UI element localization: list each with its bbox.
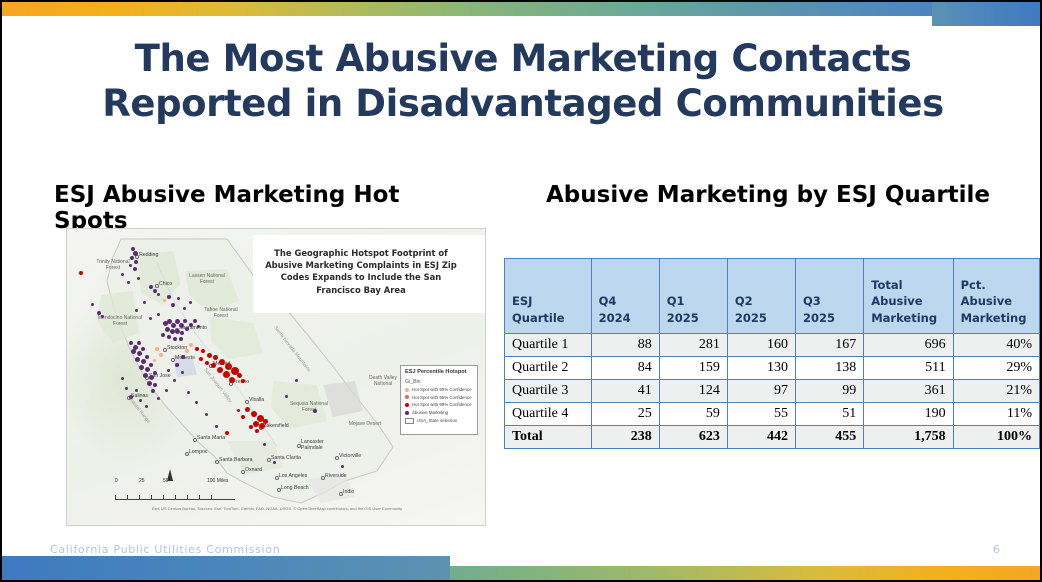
legend-field: Gi_Bin — [405, 379, 473, 385]
abusive-marketing-table: ESJ Quartile Q4 2024 Q1 2025 Q2 2025 — [504, 258, 1040, 449]
cell-q2-2025: 55 — [727, 403, 795, 426]
row-label: Quartile 3 — [505, 380, 592, 403]
map-scale-bar: 0 25 50 100 Miles — [115, 487, 235, 500]
cell-q3-2025: 99 — [796, 380, 864, 403]
column-header-pct-abusive-marketing: Pct. Abusive Marketing — [953, 259, 1039, 334]
cell-pct: 21% — [953, 380, 1039, 403]
header-line: Q3 — [803, 293, 856, 309]
table-row: Quartile 4 25 59 55 51 190 11% — [505, 403, 1040, 426]
cell-q2-2025: 130 — [727, 357, 795, 380]
table-row: Quartile 2 84 159 130 138 511 29% — [505, 357, 1040, 380]
column-header-total-abusive-marketing: Total Abusive Marketing — [864, 259, 953, 334]
cell-q2-2025: 160 — [727, 334, 795, 357]
header-line: Abusive — [871, 293, 945, 309]
legend-item-label: Hot Spot with 95% Confidence — [412, 395, 472, 400]
cell-q4-2024: 41 — [591, 380, 659, 403]
cell-q1-2025: 281 — [659, 334, 727, 357]
table-row: Quartile 3 41 124 97 99 361 21% — [505, 380, 1040, 403]
cell-total: 696 — [864, 334, 953, 357]
table-row-total: Total 238 623 442 455 1,758 100% — [505, 426, 1040, 449]
legend-item: Hot Spot with 95% Confidence — [405, 395, 473, 400]
cell-q4-2024: 84 — [591, 357, 659, 380]
scale-tick: 0 — [115, 478, 118, 484]
cell-q1-2025: 159 — [659, 357, 727, 380]
cell-pct: 29% — [953, 357, 1039, 380]
bottom-decorative-band — [2, 556, 1042, 580]
legend-item-label: Abusive Marketing — [412, 410, 448, 415]
scale-tick: 25 — [139, 478, 145, 484]
cell-q3-2025: 167 — [796, 334, 864, 357]
row-label: Quartile 1 — [505, 334, 592, 357]
header-line: Marketing — [871, 310, 945, 326]
cell-q2-2025: 442 — [727, 426, 795, 449]
cell-q3-2025: 138 — [796, 357, 864, 380]
row-label: Total — [505, 426, 592, 449]
top-band-notch — [2, 16, 932, 26]
bottom-band-step — [2, 556, 450, 580]
map-callout-text: The Geographic Hotspot Footprint of Abus… — [263, 247, 459, 296]
column-header-q2-2025: Q2 2025 — [727, 259, 795, 334]
scale-tick: 50 — [163, 478, 169, 484]
table-header: ESJ Quartile Q4 2024 Q1 2025 Q2 2025 — [505, 259, 1040, 334]
legend-swatch-icon — [405, 411, 409, 415]
header-line: Marketing — [961, 310, 1032, 326]
legend-swatch-icon — [405, 418, 414, 425]
legend-item-label: Hot Spot with 99% Confidence — [412, 402, 472, 407]
map-attribution: Esri, US Census Bureau, Sources: Esri, T… — [77, 506, 477, 511]
page-title: The Most Abusive Marketing Contacts Repo… — [2, 36, 1042, 126]
bottom-band-notch — [450, 556, 1042, 566]
top-decorative-band — [2, 2, 1042, 26]
header-line: Q2 — [735, 293, 788, 309]
cell-q1-2025: 124 — [659, 380, 727, 403]
legend-item: Hot Spot with 99% Confidence — [405, 402, 473, 407]
legend-item-label: Hot Spot with 90% Confidence — [412, 387, 472, 392]
column-header-q1-2025: Q1 2025 — [659, 259, 727, 334]
cell-total: 361 — [864, 380, 953, 403]
cell-q1-2025: 623 — [659, 426, 727, 449]
legend-item: Hot Spot with 90% Confidence — [405, 387, 473, 392]
header-line: 2025 — [735, 310, 788, 326]
column-header-esj-quartile: ESJ Quartile — [505, 259, 592, 334]
column-header-q4-2024: Q4 2024 — [591, 259, 659, 334]
title-line-2: Reported in Disadvantaged Communities — [2, 81, 1042, 126]
slide: The Most Abusive Marketing Contacts Repo… — [0, 0, 1042, 582]
cell-pct: 40% — [953, 334, 1039, 357]
header-line: Total — [871, 277, 945, 293]
column-header-q3-2025: Q3 2025 — [796, 259, 864, 334]
cell-pct: 11% — [953, 403, 1039, 426]
map-legend: ESJ Percentile Hotspot Gi_Bin Hot Spot w… — [400, 365, 478, 435]
header-line: Q4 — [599, 293, 652, 309]
cell-pct: 100% — [953, 426, 1039, 449]
top-band-gradient — [2, 2, 1042, 16]
legend-item-label: USA_State selection — [417, 418, 457, 423]
cell-q3-2025: 455 — [796, 426, 864, 449]
cell-q4-2024: 88 — [591, 334, 659, 357]
scale-line — [115, 495, 235, 500]
title-line-1: The Most Abusive Marketing Contacts — [2, 36, 1042, 81]
quartile-table-container: ESJ Quartile Q4 2024 Q1 2025 Q2 2025 — [504, 258, 1040, 449]
table-header-row: ESJ Quartile Q4 2024 Q1 2025 Q2 2025 — [505, 259, 1040, 334]
cell-q1-2025: 59 — [659, 403, 727, 426]
cell-q2-2025: 97 — [727, 380, 795, 403]
scale-tick-labels: 0 25 50 100 Miles — [115, 487, 235, 495]
header-line: 2024 — [599, 310, 652, 326]
header-line: Quartile — [512, 310, 584, 326]
page-number: 6 — [993, 543, 1000, 556]
header-line: Q1 — [667, 293, 720, 309]
cell-q4-2024: 238 — [591, 426, 659, 449]
right-section-heading: Abusive Marketing by ESJ Quartile — [546, 182, 1016, 208]
hot-spot-map[interactable]: Trinity National Forest Mendocino Nation… — [66, 228, 486, 526]
header-line: 2025 — [667, 310, 720, 326]
header-line: Abusive — [961, 293, 1032, 309]
cell-q3-2025: 51 — [796, 403, 864, 426]
legend-swatch-icon — [405, 388, 409, 392]
cell-total: 190 — [864, 403, 953, 426]
legend-title: ESJ Percentile Hotspot — [405, 369, 473, 377]
table-row: Quartile 1 88 281 160 167 696 40% — [505, 334, 1040, 357]
footer-organization: California Public Utilities Commission — [50, 543, 280, 556]
row-label: Quartile 2 — [505, 357, 592, 380]
header-line: Pct. — [961, 277, 1032, 293]
row-label: Quartile 4 — [505, 403, 592, 426]
scale-tick: 100 Miles — [207, 478, 228, 484]
legend-item: USA_State selection — [405, 418, 473, 425]
cell-total: 511 — [864, 357, 953, 380]
legend-item: Abusive Marketing — [405, 410, 473, 415]
header-line: ESJ — [512, 293, 584, 309]
legend-swatch-icon — [405, 395, 409, 399]
left-section-heading: ESJ Abusive Marketing Hot Spots — [54, 182, 474, 234]
legend-swatch-icon — [405, 403, 409, 407]
top-band-step — [932, 2, 1042, 26]
table-body: Quartile 1 88 281 160 167 696 40% Quarti… — [505, 334, 1040, 449]
cell-q4-2024: 25 — [591, 403, 659, 426]
cell-total: 1,758 — [864, 426, 953, 449]
header-line: 2025 — [803, 310, 856, 326]
